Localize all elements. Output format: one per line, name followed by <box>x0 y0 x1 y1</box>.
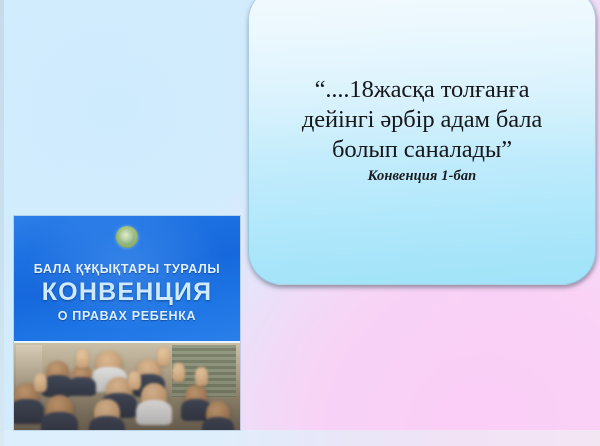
photo-overlay <box>14 343 240 430</box>
quote-text-block: “....18жасқа толғанға дейінгі әрбір адам… <box>249 75 595 185</box>
background-bottom-strip <box>0 430 600 446</box>
quote-line-2: дейінгі әрбір адам бала <box>249 105 595 135</box>
quote-source-attribution: Конвенция 1-бап <box>249 168 595 185</box>
book-cover-title: КОНВЕНЦИЯ <box>14 278 240 307</box>
slide-canvas: “....18жасқа толғанға дейінгі әрбір адам… <box>0 0 600 446</box>
background-left-edge <box>0 0 4 446</box>
state-emblem-icon <box>116 226 138 248</box>
convention-book-image[interactable]: БАЛА ҚҰҚЫҚТАРЫ ТУРАЛЫ КОНВЕНЦИЯ О ПРАВАХ… <box>14 216 240 430</box>
quote-card[interactable]: “....18жасқа толғанға дейінгі әрбір адам… <box>248 0 596 285</box>
children-photo <box>14 341 240 430</box>
book-cover-line-top: БАЛА ҚҰҚЫҚТАРЫ ТУРАЛЫ <box>14 262 240 276</box>
book-cover-panel: БАЛА ҚҰҚЫҚТАРЫ ТУРАЛЫ КОНВЕНЦИЯ О ПРАВАХ… <box>14 216 240 341</box>
book-cover-subtitle: О ПРАВАХ РЕБЕНКА <box>14 309 240 323</box>
quote-line-1: “....18жасқа толғанға <box>249 75 595 105</box>
quote-line-3: болып саналады” <box>249 135 595 165</box>
